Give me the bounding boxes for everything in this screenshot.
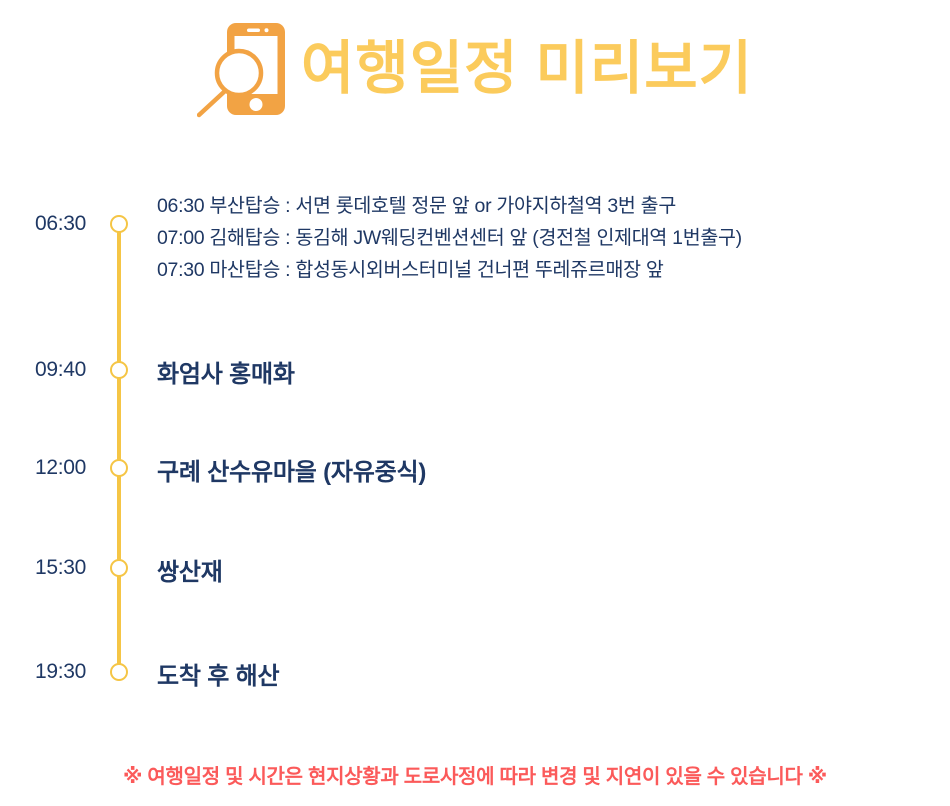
boarding-line: 06:30 부산탑승 : 서면 롯데호텔 정문 앞 or 가야지하철역 3번 출… — [157, 190, 937, 222]
timeline-time: 19:30 — [0, 660, 86, 684]
timeline-axis — [117, 222, 121, 672]
timeline-content: 쌍산재 — [157, 552, 937, 587]
timeline-content: 구례 산수유마을 (자유중식) — [157, 452, 937, 487]
phone-search-icon — [197, 19, 289, 119]
boarding-line: 07:00 김해탑승 : 동김해 JW웨딩컨벤션센터 앞 (경전철 인제대역 1… — [157, 222, 937, 254]
timeline-dot — [110, 559, 128, 577]
timeline-dot — [110, 361, 128, 379]
page-title: 여행일정 미리보기 — [301, 40, 753, 98]
boarding-line: 07:30 마산탑승 : 합성동시외버스터미널 건너편 뚜레쥬르매장 앞 — [157, 254, 937, 286]
page-header: 여행일정 미리보기 — [0, 14, 950, 124]
timeline-time: 15:30 — [0, 556, 86, 580]
timeline-content: 06:30 부산탑승 : 서면 롯데호텔 정문 앞 or 가야지하철역 3번 출… — [157, 190, 937, 286]
timeline-content: 화엄사 홍매화 — [157, 354, 937, 389]
timeline-time: 12:00 — [0, 456, 86, 480]
timeline-dot — [110, 459, 128, 477]
timeline-time: 06:30 — [0, 212, 86, 236]
timeline-time: 09:40 — [0, 358, 86, 382]
itinerary-timeline: 06:30 06:30 부산탑승 : 서면 롯데호텔 정문 앞 or 가야지하철… — [0, 150, 950, 720]
disclaimer-notice: ※ 여행일정 및 시간은 현지상황과 도로사정에 따라 변경 및 지연이 있을 … — [0, 760, 950, 789]
timeline-content: 도착 후 해산 — [157, 656, 937, 691]
timeline-dot — [110, 663, 128, 681]
timeline-dot — [110, 215, 128, 233]
